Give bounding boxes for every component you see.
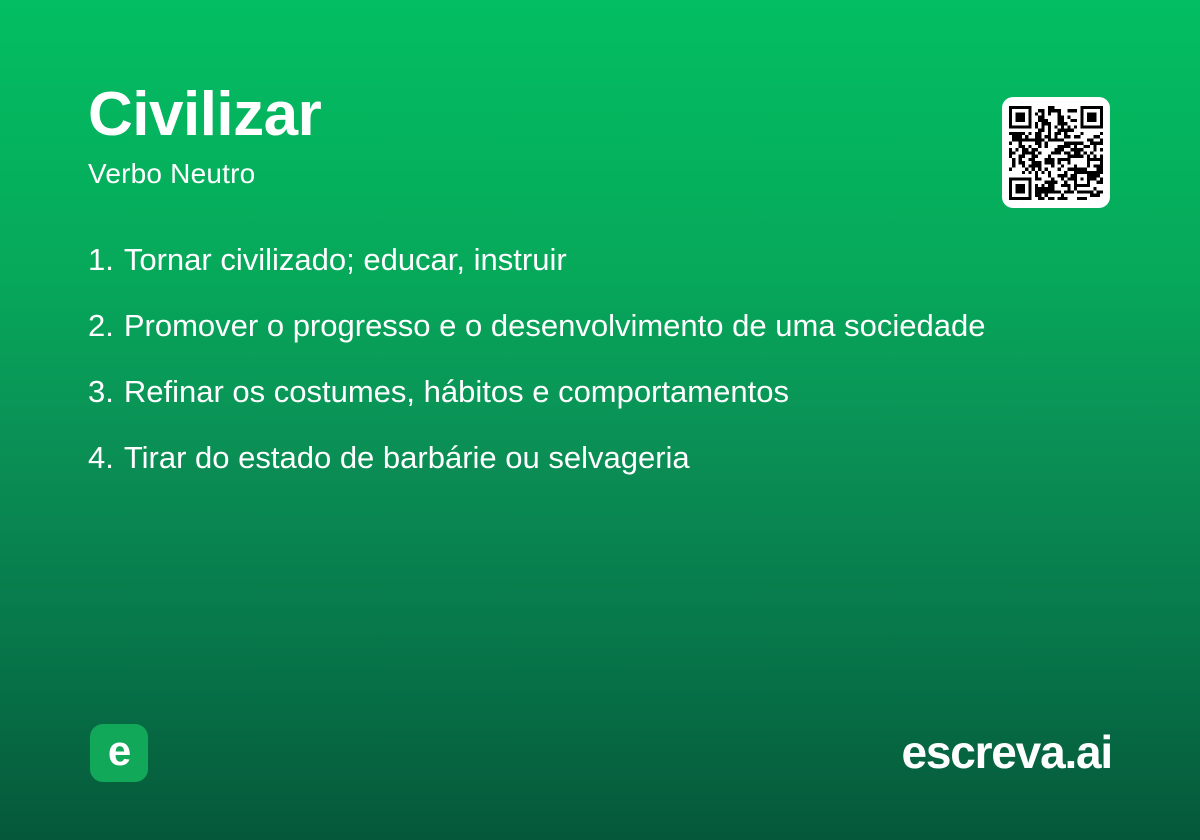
list-item: 1. Tornar civilizado; educar, instruir [88,243,1118,309]
list-item: 2. Promover o progresso e o desenvolvime… [88,309,1118,375]
logo-letter: e [108,730,130,772]
qr-code-icon[interactable] [1002,97,1110,208]
definition-list: 1. Tornar civilizado; educar, instruir 2… [88,243,1118,507]
escreva-logo-icon[interactable]: e [90,724,148,782]
definition-text: Tornar civilizado; educar, instruir [124,243,567,278]
definition-index: 4. [88,441,114,476]
definition-index: 2. [88,309,114,344]
dictionary-card: Civilizar Verbo Neutro 1. Tornar civiliz… [0,0,1200,840]
definition-text: Promover o progresso e o desenvolvimento… [124,309,986,344]
list-item: 3. Refinar os costumes, hábitos e compor… [88,375,1118,441]
list-item: 4. Tirar do estado de barbárie ou selvag… [88,441,1118,507]
definition-index: 3. [88,375,114,410]
grammatical-class-label: Verbo Neutro [88,159,788,190]
card-header: Civilizar Verbo Neutro [88,82,788,190]
definition-index: 1. [88,243,114,278]
brand-wordmark: escreva.ai [901,725,1112,780]
page-title: Civilizar [88,82,788,147]
definition-text: Refinar os costumes, hábitos e comportam… [124,375,789,410]
qr-code-canvas [1009,106,1103,200]
definition-text: Tirar do estado de barbárie ou selvageri… [124,441,690,476]
